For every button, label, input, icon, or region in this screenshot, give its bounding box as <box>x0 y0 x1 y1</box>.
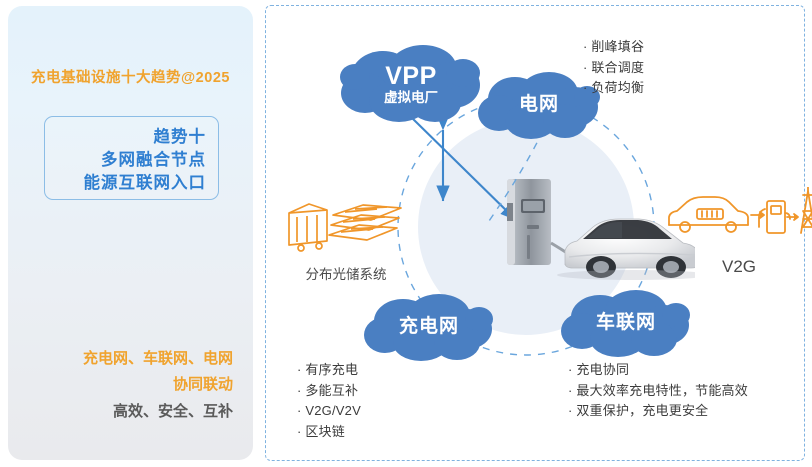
bullet-grid-2: · 负荷均衡 <box>583 78 644 99</box>
trend-line-3: 能源互联网入口 <box>84 169 207 193</box>
trend-line-2: 多网融合节点 <box>101 146 206 170</box>
footer-line-2: 协同联动 <box>8 372 233 398</box>
v2g-flow-icon <box>663 187 812 251</box>
solar-storage-label: 分布光储系统 <box>283 263 409 283</box>
left-summary-panel: 充电基础设施十大趋势@2025 趋势十 多网融合节点 能源互联网入口 充电网、车… <box>8 6 253 460</box>
cloud-shape-vpp <box>339 43 483 125</box>
multi-network-diagram: VPP 虚拟电厂 电网 <box>265 5 805 461</box>
cloud-shape-charging <box>363 291 495 363</box>
bullets-iov: · 充电协同 · 最大效率充电特性，节能高效 · 双重保护，充电更安全 <box>568 360 748 422</box>
cloud-shape-iov <box>560 287 692 359</box>
bullet-charging-2: · V2G/V2V <box>297 401 361 422</box>
bullet-grid-1: · 联合调度 <box>583 58 644 79</box>
v2g-label: V2G <box>663 257 812 277</box>
footer-line-3: 高效、安全、互补 <box>8 398 233 426</box>
cloud-vpp[interactable]: VPP 虚拟电厂 <box>339 43 483 125</box>
solar-storage-icon <box>285 195 407 257</box>
bullet-iov-0: · 充电协同 <box>568 360 748 381</box>
bullet-charging-1: · 多能互补 <box>297 381 361 402</box>
cloud-charging-network[interactable]: 充电网 <box>363 291 495 363</box>
bullet-charging-0: · 有序充电 <box>297 360 361 381</box>
bullet-grid-0: · 削峰填谷 <box>583 37 644 58</box>
bullet-iov-2: · 双重保护，充电更安全 <box>568 401 748 422</box>
slide-canvas: 充电基础设施十大趋势@2025 趋势十 多网融合节点 能源互联网入口 充电网、车… <box>0 0 812 467</box>
bullets-charging-network: · 有序充电 · 多能互补 · V2G/V2V · 区块链 <box>297 360 361 442</box>
brand-title: 充电基础设施十大趋势@2025 <box>8 66 253 87</box>
left-footer-text: 充电网、车联网、电网 协同联动 高效、安全、互补 <box>8 346 253 426</box>
cloud-internet-of-vehicles[interactable]: 车联网 <box>560 287 692 359</box>
trend-highlight-box: 趋势十 多网融合节点 能源互联网入口 <box>44 116 219 200</box>
footer-line-1: 充电网、车联网、电网 <box>8 346 233 372</box>
bullet-charging-3: · 区块链 <box>297 422 361 443</box>
bullets-grid: · 削峰填谷 · 联合调度 · 负荷均衡 <box>583 37 644 99</box>
trend-line-1: 趋势十 <box>154 123 207 147</box>
bullet-iov-1: · 最大效率充电特性，节能高效 <box>568 381 748 402</box>
